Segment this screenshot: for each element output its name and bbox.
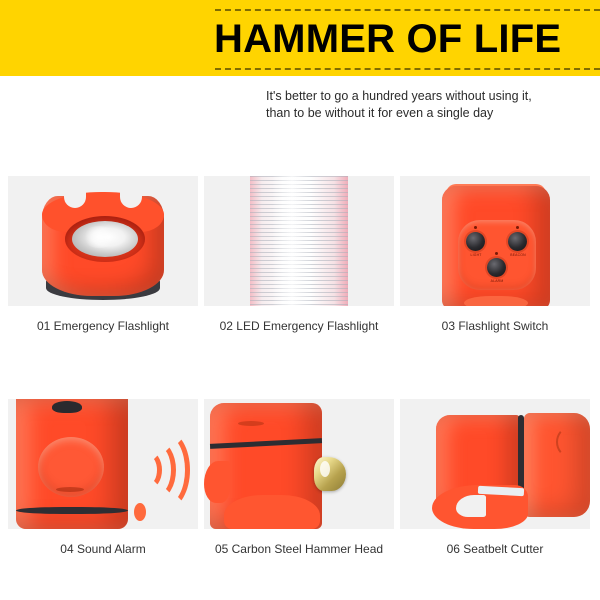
alarm-band bbox=[16, 507, 128, 514]
feature-row-2: 04 Sound Alarm 05 Carbon Steel Hammer He… bbox=[8, 399, 592, 556]
button-alarm[interactable] bbox=[487, 258, 506, 277]
switch-lower-flare bbox=[464, 296, 528, 306]
header-banner: HAMMER OF LIFE bbox=[0, 0, 600, 76]
feature-image-carbon-steel-hammer-head bbox=[204, 399, 394, 529]
header-dashed-rule-bottom bbox=[215, 68, 600, 70]
switch-indicator-alarm bbox=[495, 252, 498, 255]
hammer-base-flare bbox=[224, 495, 320, 529]
switch-indicator-beacon bbox=[516, 226, 519, 229]
sound-wave-icon bbox=[144, 431, 190, 509]
feature-image-emergency-flashlight bbox=[8, 176, 198, 306]
feature-image-flashlight-switch: LIGHT BEACON ALARM bbox=[400, 176, 590, 306]
subtitle-line-2: than to be without it for even a single … bbox=[266, 105, 596, 122]
cutter-notch bbox=[456, 495, 486, 517]
feature-caption-03: 03 Flashlight Switch bbox=[400, 319, 590, 333]
feature-grid: 01 Emergency Flashlight 02 LED Emergency… bbox=[8, 176, 592, 556]
feature-image-led-emergency-flashlight bbox=[204, 176, 394, 306]
feature-caption-01: 01 Emergency Flashlight bbox=[8, 319, 198, 333]
button-label-light: LIGHT bbox=[464, 253, 488, 257]
feature-cell-06[interactable]: 06 Seatbelt Cutter bbox=[400, 399, 590, 556]
subtitle-line-1: It's better to go a hundred years withou… bbox=[266, 88, 596, 105]
button-label-beacon: BEACON bbox=[504, 253, 532, 257]
feature-caption-02: 02 LED Emergency Flashlight bbox=[204, 319, 394, 333]
led-highlight bbox=[272, 176, 312, 306]
alarm-side-nub bbox=[134, 503, 146, 521]
feature-image-sound-alarm bbox=[8, 399, 198, 529]
flashlight-glow bbox=[82, 226, 116, 248]
feature-cell-05[interactable]: 05 Carbon Steel Hammer Head bbox=[204, 399, 394, 556]
page-title: HAMMER OF LIFE bbox=[214, 14, 600, 64]
feature-cell-02[interactable]: 02 LED Emergency Flashlight bbox=[204, 176, 394, 333]
feature-image-seatbelt-cutter bbox=[400, 399, 590, 529]
feature-caption-04: 04 Sound Alarm bbox=[8, 542, 198, 556]
header-dashed-rule-top bbox=[215, 9, 600, 11]
feature-row-1: 01 Emergency Flashlight 02 LED Emergency… bbox=[8, 176, 592, 333]
cutter-arc-detail bbox=[556, 427, 582, 457]
carbon-steel-tip bbox=[314, 457, 346, 491]
feature-caption-05: 05 Carbon Steel Hammer Head bbox=[204, 542, 394, 556]
hammer-slit bbox=[238, 421, 264, 426]
alarm-top-button bbox=[52, 401, 82, 413]
led-strip bbox=[250, 176, 348, 306]
switch-indicator-light bbox=[474, 226, 477, 229]
button-light[interactable] bbox=[466, 232, 485, 251]
speaker-slit bbox=[56, 487, 84, 492]
cutter-body-right bbox=[524, 413, 590, 517]
carbon-steel-tip-highlight bbox=[320, 461, 330, 477]
subtitle: It's better to go a hundred years withou… bbox=[266, 88, 596, 122]
button-label-alarm: ALARM bbox=[484, 279, 510, 283]
feature-cell-04[interactable]: 04 Sound Alarm bbox=[8, 399, 198, 556]
product-infographic: HAMMER OF LIFE It's better to go a hundr… bbox=[0, 0, 600, 600]
button-beacon[interactable] bbox=[508, 232, 527, 251]
feature-cell-01[interactable]: 01 Emergency Flashlight bbox=[8, 176, 198, 333]
feature-caption-06: 06 Seatbelt Cutter bbox=[400, 542, 590, 556]
feature-cell-03[interactable]: LIGHT BEACON ALARM 03 Flashlight Switch bbox=[400, 176, 590, 333]
hammer-side-hook bbox=[204, 461, 230, 503]
